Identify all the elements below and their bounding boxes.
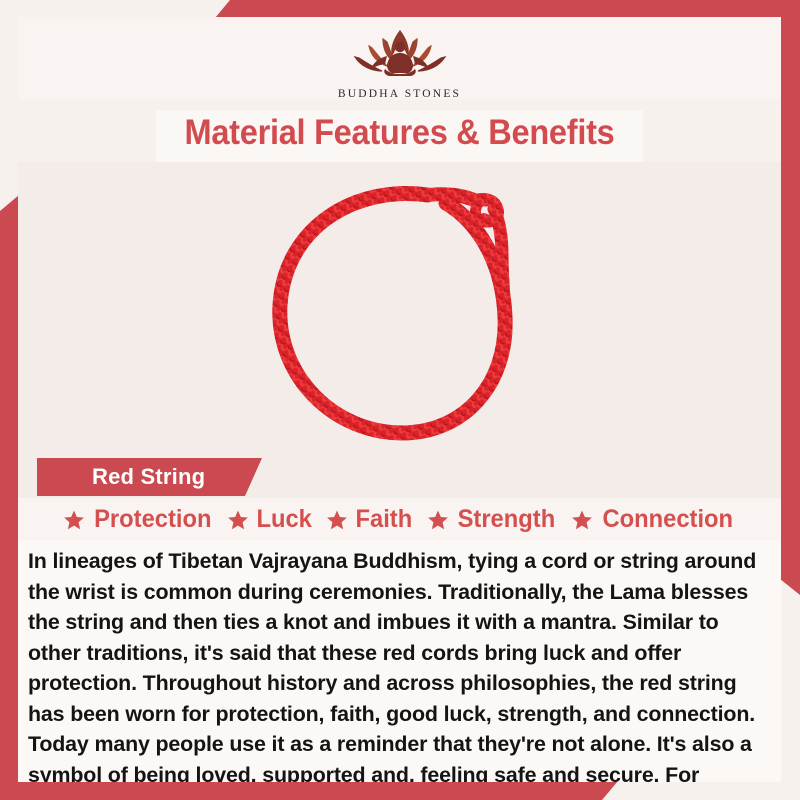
lotus-meditation-figure-icon [325, 25, 475, 87]
star-icon [326, 509, 348, 531]
title-banner: Material Features & Benefits [156, 110, 643, 162]
feature-label: Luck [257, 505, 312, 534]
infographic-page: BUDDHA STONES Material Features & Benefi… [18, 17, 781, 782]
brand-header: BUDDHA STONES [18, 17, 781, 100]
features-list: Protection Luck Faith [18, 498, 781, 540]
star-icon [63, 509, 85, 531]
decorative-band-top [215, 0, 800, 18]
red-braided-string-bracelet-image [250, 165, 550, 455]
star-icon [571, 509, 593, 531]
feature-faith: Faith [326, 505, 414, 534]
feature-protection: Protection [63, 505, 215, 534]
product-image-area [18, 162, 781, 458]
feature-strength: Strength [427, 505, 558, 534]
feature-label: Connection [602, 505, 733, 534]
star-icon [427, 509, 449, 531]
ribbon-row: Red String [18, 458, 781, 498]
feature-luck: Luck [227, 505, 313, 534]
decorative-band-left [0, 195, 19, 782]
brand-name: BUDDHA STONES [338, 88, 461, 100]
description-text: In lineages of Tibetan Vajrayana Buddhis… [18, 540, 781, 782]
star-icon [227, 509, 249, 531]
decorative-band-bottom [0, 781, 618, 800]
red-string-ribbon: Red String [37, 458, 262, 496]
feature-connection: Connection [571, 505, 737, 534]
feature-label: Strength [458, 505, 556, 534]
feature-label: Faith [356, 505, 413, 534]
feature-label: Protection [94, 505, 211, 534]
decorative-band-right [780, 17, 800, 595]
ribbon-label: Red String [92, 464, 205, 490]
page-title: Material Features & Benefits [173, 113, 626, 153]
